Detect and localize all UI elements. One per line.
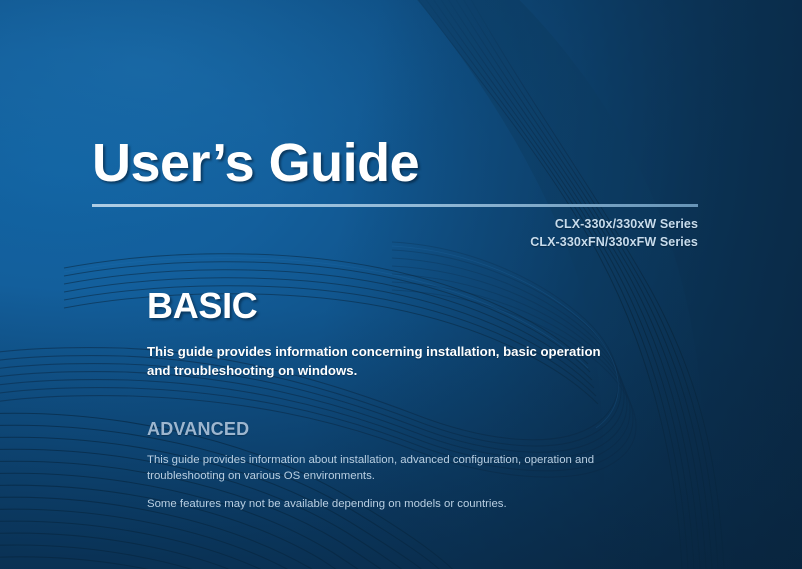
advanced-section: ADVANCED This guide provides information… bbox=[147, 420, 617, 513]
model-series-list: CLX-330x/330xW Series CLX-330xFN/330xFW … bbox=[92, 215, 698, 252]
advanced-heading: ADVANCED bbox=[147, 420, 617, 438]
model-series-line-1: CLX-330x/330xW Series bbox=[92, 215, 698, 233]
basic-section: BASIC This guide provides information co… bbox=[147, 288, 617, 380]
model-series-line-2: CLX-330xFN/330xFW Series bbox=[92, 233, 698, 251]
title-block: User’s Guide CLX-330x/330xW Series CLX-3… bbox=[92, 136, 698, 252]
guide-cover-page: User’s Guide CLX-330x/330xW Series CLX-3… bbox=[0, 0, 802, 569]
basic-heading: BASIC bbox=[147, 288, 617, 324]
page-title: User’s Guide bbox=[92, 136, 698, 190]
title-divider-rule bbox=[92, 204, 698, 207]
advanced-description: This guide provides information about in… bbox=[147, 452, 599, 484]
basic-description: This guide provides information concerni… bbox=[147, 343, 609, 380]
advanced-note: Some features may not be available depen… bbox=[147, 496, 599, 512]
